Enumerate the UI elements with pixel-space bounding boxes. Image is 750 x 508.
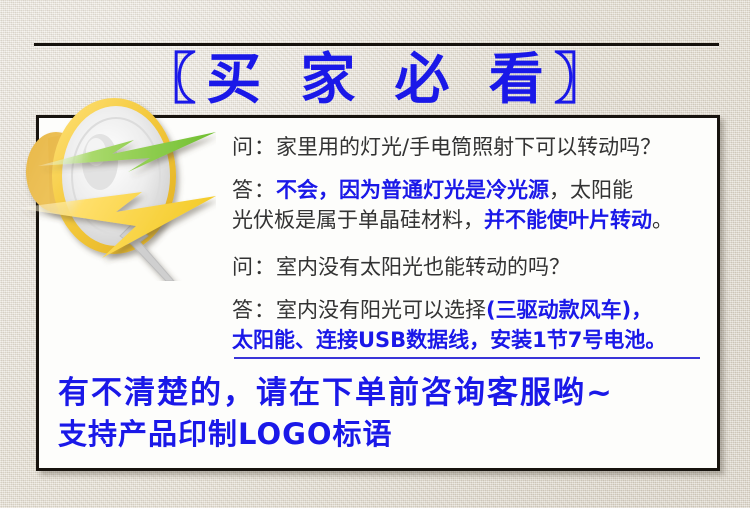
faq-answer-1-highlight-a: 不会，因为普通灯光是冷光源 xyxy=(276,178,549,202)
page-title: 〖买 家 必 看〗 xyxy=(0,48,750,110)
faq-answer-1-plain-a: ，太阳能 xyxy=(549,178,633,202)
faq-answer-label-2: 答： xyxy=(232,298,276,322)
faq-divider-rule xyxy=(234,357,700,359)
faq-question-text-2: 室内没有太阳光也能转动的吗？ xyxy=(276,255,570,279)
faq-question-label-2: 问： xyxy=(232,255,276,279)
faq-question-1: 问：家里用的灯光/手电筒照射下可以转动吗？ xyxy=(232,132,722,162)
faq-answer-2-highlight-a: (三驱动款风车)， xyxy=(486,298,652,322)
faq-answer-2-line-1: 答：室内没有阳光可以选择(三驱动款风车)， xyxy=(232,295,722,325)
faq-answer-2-line-2: 太阳能、连接USB数据线，安装1节7号电池。 xyxy=(232,325,722,355)
faq-question-label-1: 问： xyxy=(232,135,276,159)
footer-slogan: 有不清楚的，请在下单前咨询客服哟~ 支持产品印制LOGO标语 xyxy=(58,372,698,454)
faq-answer-1-line-2: 光伏板是属于单晶硅材料，并不能使叶片转动。 xyxy=(232,205,722,235)
faq-spacer xyxy=(232,235,722,252)
top-divider-rule xyxy=(34,43,719,46)
faq-question-2: 问：室内没有太阳光也能转动的吗？ xyxy=(232,252,722,282)
faq-answer-1-highlight-b: 并不能使叶片转动 xyxy=(484,208,652,232)
faq-answer-1-tail: 。 xyxy=(652,208,673,232)
promo-poster: 〖买 家 必 看〗 xyxy=(0,0,750,508)
footer-slogan-line-1: 有不清楚的，请在下单前咨询客服哟~ xyxy=(58,372,698,414)
footer-slogan-line-2: 支持产品印制LOGO标语 xyxy=(58,414,698,454)
faq-answer-1-line-1: 答：不会，因为普通灯光是冷光源，太阳能 xyxy=(232,175,722,205)
faq-list: 问：家里用的灯光/手电筒照射下可以转动吗？ 答：不会，因为普通灯光是冷光源，太阳… xyxy=(232,132,722,355)
faq-answer-1-plain-b: 光伏板是属于单晶硅材料， xyxy=(232,208,484,232)
faq-answer-2-highlight-b: 太阳能、连接USB数据线，安装1节7号电池。 xyxy=(232,328,666,352)
faq-question-text-1: 家里用的灯光/手电筒照射下可以转动吗？ xyxy=(276,135,661,159)
faq-answer-2-plain-a: 室内没有阳光可以选择 xyxy=(276,298,486,322)
faq-answer-label-1: 答： xyxy=(232,178,276,202)
